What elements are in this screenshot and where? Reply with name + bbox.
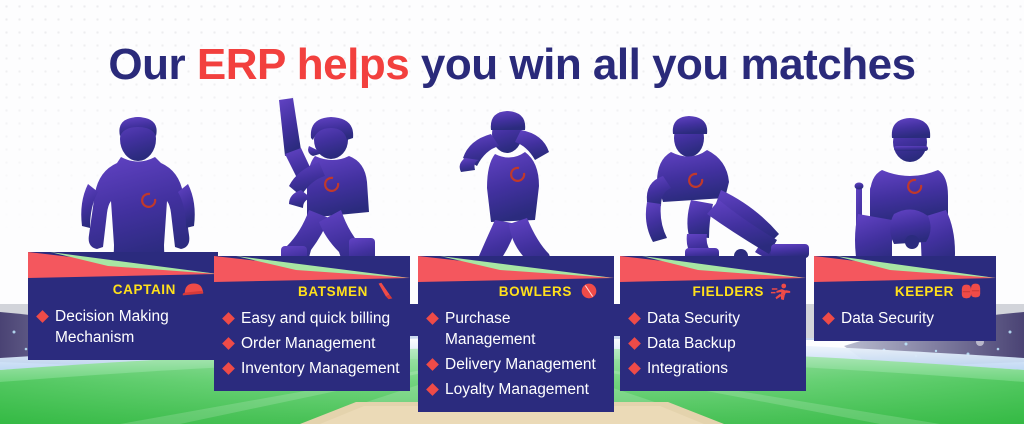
- diamond-bullet-icon: [426, 312, 439, 325]
- list-item-label: Data Security: [647, 308, 740, 329]
- headline-part-1: Our: [108, 40, 196, 89]
- card-title: FIELDERS: [692, 284, 764, 299]
- batsman-silhouette: [245, 98, 415, 278]
- bowler-silhouette: [455, 110, 610, 278]
- wicketkeeper-gloves-icon: [960, 282, 982, 300]
- card-feature-list: Purchase Management Delivery Management …: [428, 306, 604, 402]
- headline-part-2: you win all you matches: [409, 40, 915, 89]
- card-feature-list: Decision Making Mechanism: [38, 304, 208, 350]
- card-title: KEEPER: [895, 284, 954, 299]
- card-feature-list: Data Security Data Backup Integrations: [630, 306, 796, 381]
- diamond-bullet-icon: [426, 358, 439, 371]
- diamond-bullet-icon: [628, 337, 641, 350]
- list-item-label: Data Backup: [647, 333, 736, 354]
- card-body: KEEPER Data Security: [814, 256, 996, 341]
- cricket-bat-icon: [374, 282, 396, 300]
- list-item[interactable]: Data Security: [824, 306, 986, 331]
- diamond-bullet-icon: [426, 383, 439, 396]
- list-item-label: Inventory Management: [241, 358, 400, 379]
- list-item-label: Purchase Management: [445, 308, 604, 350]
- card-title-row: FIELDERS: [630, 280, 796, 302]
- card-body: BATSMEN Easy and quick billing Order Man…: [214, 256, 410, 391]
- card-body: CAPTAIN Decision Making Mechanism: [28, 252, 218, 360]
- card-body: FIELDERS Dat: [620, 256, 806, 391]
- card-title: CAPTAIN: [113, 282, 176, 297]
- card-title-row: BATSMEN: [224, 280, 400, 302]
- list-item-label: Decision Making Mechanism: [55, 306, 208, 348]
- page-title: Our ERP helps you win all you matches: [0, 40, 1024, 90]
- cricket-ball-icon: [578, 282, 600, 300]
- headline-highlight: ERP helps: [197, 40, 409, 89]
- card-title: BOWLERS: [499, 284, 572, 299]
- list-item[interactable]: Data Security: [630, 306, 796, 331]
- list-item-label: Delivery Management: [445, 354, 596, 375]
- diamond-bullet-icon: [822, 312, 835, 325]
- diamond-bullet-icon: [628, 362, 641, 375]
- diamond-bullet-icon: [222, 362, 235, 375]
- list-item[interactable]: Easy and quick billing: [224, 306, 400, 331]
- card-body: BOWLERS Purchase Management Delivery Man…: [418, 256, 614, 412]
- card-title-row: CAPTAIN: [38, 278, 208, 300]
- card-title-row: KEEPER: [824, 280, 986, 302]
- card-title-row: BOWLERS: [428, 280, 604, 302]
- list-item-label: Easy and quick billing: [241, 308, 390, 329]
- list-item-label: Integrations: [647, 358, 728, 379]
- running-fielder-icon: [770, 282, 792, 300]
- list-item[interactable]: Delivery Management: [428, 352, 604, 377]
- diamond-bullet-icon: [628, 312, 641, 325]
- list-item[interactable]: Order Management: [224, 331, 400, 356]
- list-item[interactable]: Data Backup: [630, 331, 796, 356]
- list-item-label: Order Management: [241, 333, 375, 354]
- list-item[interactable]: Purchase Management: [428, 306, 604, 352]
- list-item-label: Loyalty Management: [445, 379, 589, 400]
- list-item-label: Data Security: [841, 308, 934, 329]
- list-item[interactable]: Decision Making Mechanism: [38, 304, 208, 350]
- card-feature-list: Easy and quick billing Order Management …: [224, 306, 400, 381]
- diamond-bullet-icon: [222, 337, 235, 350]
- fielder-silhouette: [645, 116, 825, 276]
- cricket-cap-icon: [182, 280, 204, 298]
- banner-stage: Our ERP helps you win all you matches: [0, 0, 1024, 424]
- card-feature-list: Data Security: [824, 306, 986, 331]
- diamond-bullet-icon: [222, 312, 235, 325]
- diamond-bullet-icon: [36, 310, 49, 323]
- list-item[interactable]: Loyalty Management: [428, 377, 604, 402]
- card-title: BATSMEN: [298, 284, 368, 299]
- list-item[interactable]: Inventory Management: [224, 356, 400, 381]
- keeper-silhouette: [838, 118, 1013, 276]
- list-item[interactable]: Integrations: [630, 356, 796, 381]
